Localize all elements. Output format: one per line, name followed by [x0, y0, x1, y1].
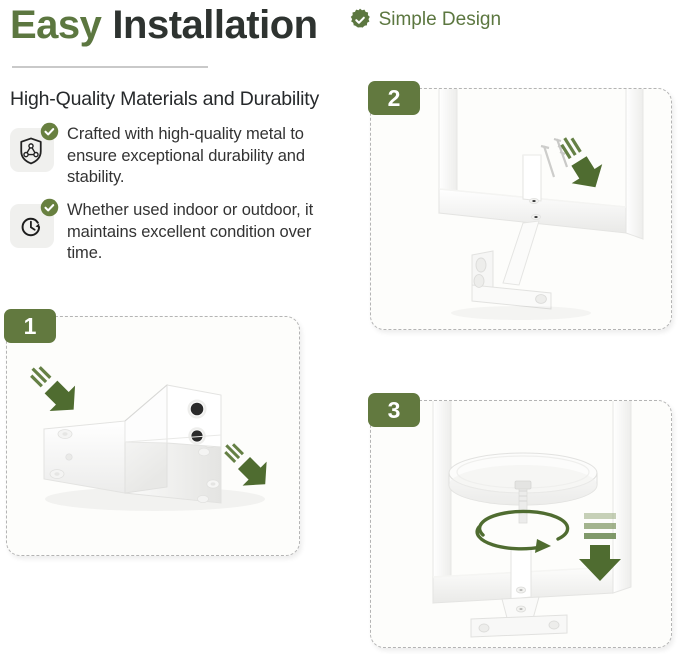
step-number-badge: 3: [368, 393, 420, 427]
canopy-disc-rotate-illustration: [371, 401, 671, 647]
arrow-down-left-motion: [214, 433, 277, 496]
header: Easy Installation Simple Design: [10, 2, 670, 54]
wall-mount-bracket-illustration: [7, 317, 299, 555]
feature-item: Whether used indoor or outdoor, it maint…: [10, 200, 337, 265]
feature-item: Crafted with high-quality metal to ensur…: [10, 124, 337, 189]
seal-check-icon: [348, 8, 372, 32]
step-panel-2: 2: [370, 88, 672, 330]
arrow-down-left-motion: [549, 129, 610, 197]
step-panel-1: 1: [6, 316, 300, 556]
features-subheading: High-Quality Materials and Durability: [10, 88, 319, 111]
frame-post-bracket-illustration: [371, 89, 671, 329]
page-title-accent: Easy: [10, 2, 101, 48]
simple-design-badge: Simple Design: [348, 8, 502, 32]
feature-icon-container: [10, 128, 54, 172]
feature-icon-container: [10, 204, 54, 248]
feature-text: Crafted with high-quality metal to ensur…: [67, 124, 337, 189]
arrow-down-left-motion: [20, 356, 86, 422]
page-title-main: Installation: [112, 2, 317, 48]
check-circle-icon: [40, 122, 59, 141]
feature-text: Whether used indoor or outdoor, it maint…: [67, 200, 337, 265]
step-panel-3: 3: [370, 400, 672, 648]
simple-design-label: Simple Design: [379, 9, 502, 31]
check-circle-icon: [40, 198, 59, 217]
step-number-badge: 1: [4, 309, 56, 343]
screw-icon: [541, 146, 554, 177]
page-title: Easy Installation Simple Design: [10, 2, 670, 48]
header-divider: [12, 66, 208, 68]
step-number-badge: 2: [368, 81, 420, 115]
